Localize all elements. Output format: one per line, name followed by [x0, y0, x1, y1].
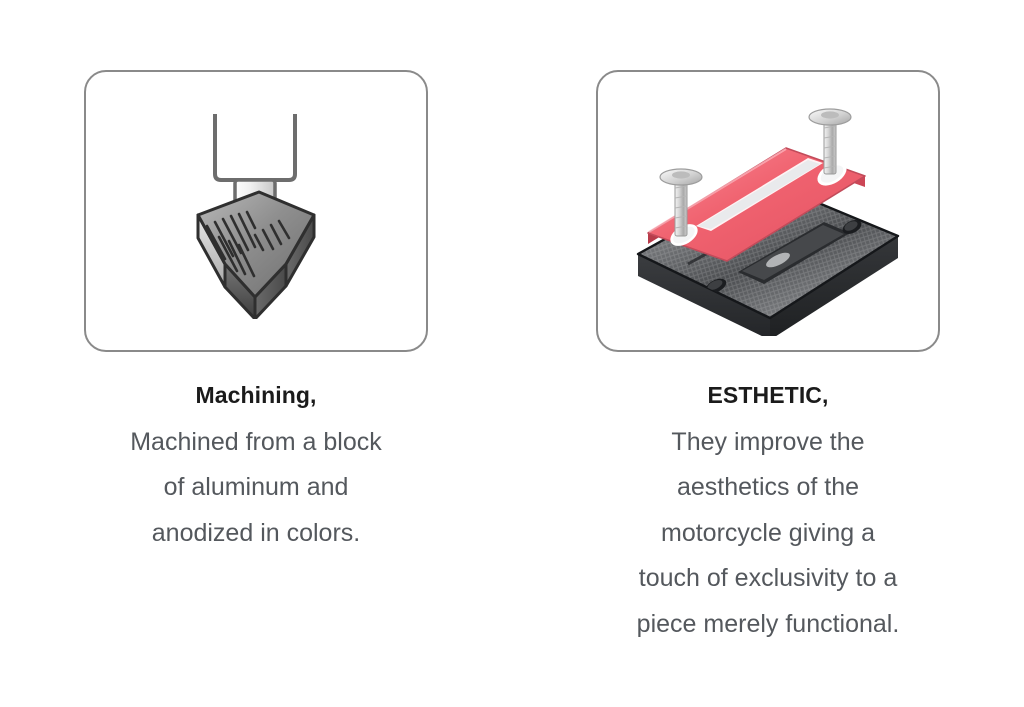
- icon-card-esthetic[interactable]: [596, 70, 940, 352]
- icon-card-machining[interactable]: [84, 70, 428, 352]
- feature-body-line: piece merely functional.: [568, 602, 968, 648]
- feature-column-machining: Machining, Machined from a block of alum…: [0, 0, 512, 556]
- feature-body-machining: Machined from a block of aluminum and an…: [56, 420, 456, 557]
- feature-body-line: aesthetics of the: [568, 465, 968, 511]
- page-root: Machining, Machined from a block of alum…: [0, 0, 1024, 707]
- feature-body-line: of aluminum and: [56, 465, 456, 511]
- feature-body-esthetic: They improve the aesthetics of the motor…: [568, 420, 968, 648]
- feature-body-line: motorcycle giving a: [568, 511, 968, 557]
- feature-body-line: anodized in colors.: [56, 511, 456, 557]
- cnc-milling-machine-icon: [151, 104, 361, 319]
- feature-body-line: Machined from a block: [56, 420, 456, 466]
- feature-body-line: They improve the: [568, 420, 968, 466]
- feature-column-esthetic: ESTHETIC, They improve the aesthetics of…: [512, 0, 1024, 647]
- feature-title-esthetic: ESTHETIC,: [707, 382, 828, 410]
- feature-body-line: touch of exclusivity to a: [568, 556, 968, 602]
- features-row: Machining, Machined from a block of alum…: [0, 0, 1024, 647]
- feature-title-machining: Machining,: [195, 382, 316, 410]
- anodized-bracket-plate-icon: [618, 86, 918, 336]
